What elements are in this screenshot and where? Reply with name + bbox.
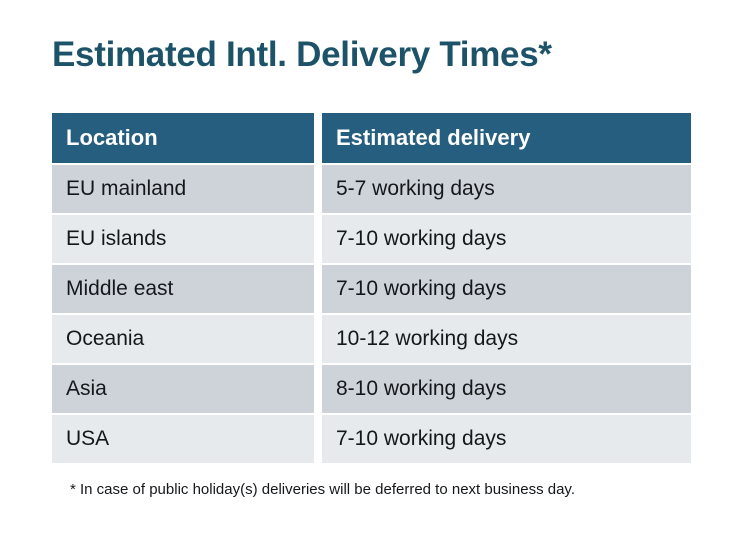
cell-delivery: 5-7 working days — [322, 165, 691, 213]
cell-delivery: 10-12 working days — [322, 315, 691, 363]
footnote-text: * In case of public holiday(s) deliverie… — [70, 481, 575, 498]
cell-location: Oceania — [52, 315, 314, 363]
cell-delivery: 7-10 working days — [322, 265, 691, 313]
table-row: Asia 8-10 working days — [52, 365, 691, 413]
cell-delivery: 7-10 working days — [322, 215, 691, 263]
cell-location: EU mainland — [52, 165, 314, 213]
delivery-times-table: Location Estimated delivery EU mainland … — [52, 113, 691, 463]
table-row: Middle east 7-10 working days — [52, 265, 691, 313]
cell-location: EU islands — [52, 215, 314, 263]
delivery-times-page: Estimated Intl. Delivery Times* Location… — [0, 0, 745, 536]
column-header-location: Location — [52, 113, 314, 163]
page-title: Estimated Intl. Delivery Times* — [52, 36, 552, 75]
table-row: Oceania 10-12 working days — [52, 315, 691, 363]
table-row: USA 7-10 working days — [52, 415, 691, 463]
table-header-row: Location Estimated delivery — [52, 113, 691, 163]
cell-location: Asia — [52, 365, 314, 413]
column-header-estimated-delivery: Estimated delivery — [322, 113, 691, 163]
cell-location: USA — [52, 415, 314, 463]
cell-location: Middle east — [52, 265, 314, 313]
cell-delivery: 8-10 working days — [322, 365, 691, 413]
table-row: EU mainland 5-7 working days — [52, 165, 691, 213]
cell-delivery: 7-10 working days — [322, 415, 691, 463]
table-row: EU islands 7-10 working days — [52, 215, 691, 263]
